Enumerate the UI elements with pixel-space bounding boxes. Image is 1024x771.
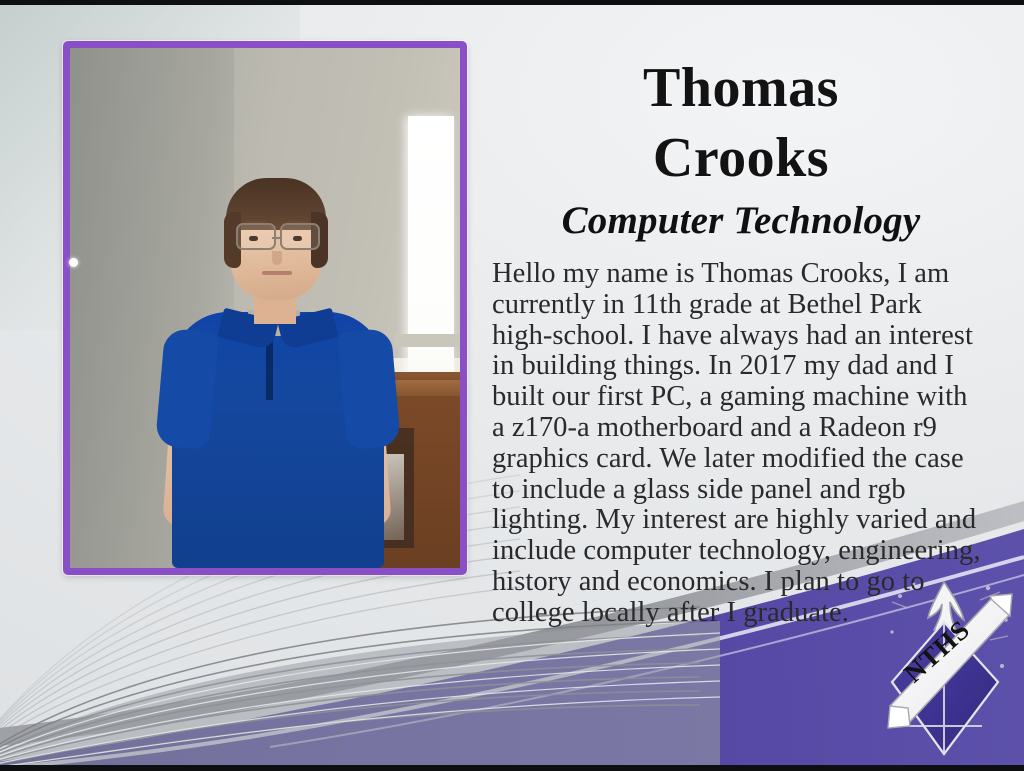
photo-mouth: [262, 271, 292, 275]
student-bio: Hello my name is Thomas Crooks, I am cur…: [492, 259, 987, 629]
bio-line: built our first PC, a gaming machine wit…: [492, 382, 987, 413]
presentation-slide: Thomas Crooks Computer Technology Hello …: [0, 0, 1024, 771]
student-photo: [70, 48, 460, 568]
bio-line: graphics card. We later modified the cas…: [492, 444, 987, 475]
bio-line: Hello my name is Thomas Crooks, I am: [492, 259, 987, 290]
student-name-first: Thomas: [492, 58, 990, 118]
bio-line: in building things. In 2017 my dad and I: [492, 351, 987, 382]
student-name-last: Crooks: [492, 128, 990, 188]
bio-line: a z170-a motherboard and a Radeon r9: [492, 413, 987, 444]
bio-line: currently in 11th grade at Bethel Park: [492, 290, 987, 321]
photo-eye-left: [249, 236, 258, 241]
bio-line: include computer technology, engineering…: [492, 536, 987, 567]
photo-sleeve-right: [337, 328, 401, 450]
photo-eyeglass-bridge: [272, 237, 280, 239]
student-program: Computer Technology: [492, 199, 990, 243]
photo-sleeve-left: [155, 328, 219, 450]
student-info-panel: Thomas Crooks Computer Technology Hello …: [492, 58, 990, 629]
letterbox-top: [0, 0, 1024, 5]
photo-nose: [272, 251, 282, 265]
student-photo-frame: [63, 41, 467, 575]
letterbox-bottom: [0, 765, 1024, 771]
bio-line: high-school. I have always had an intere…: [492, 321, 987, 352]
bio-line: to include a glass side panel and rgb: [492, 475, 987, 506]
photo-window-sill: [394, 334, 460, 347]
bio-line: lighting. My interest are highly varied …: [492, 505, 987, 536]
pointer-cursor: [69, 258, 78, 267]
nths-logo: NTHS: [884, 578, 1016, 764]
photo-eye-right: [293, 236, 302, 241]
